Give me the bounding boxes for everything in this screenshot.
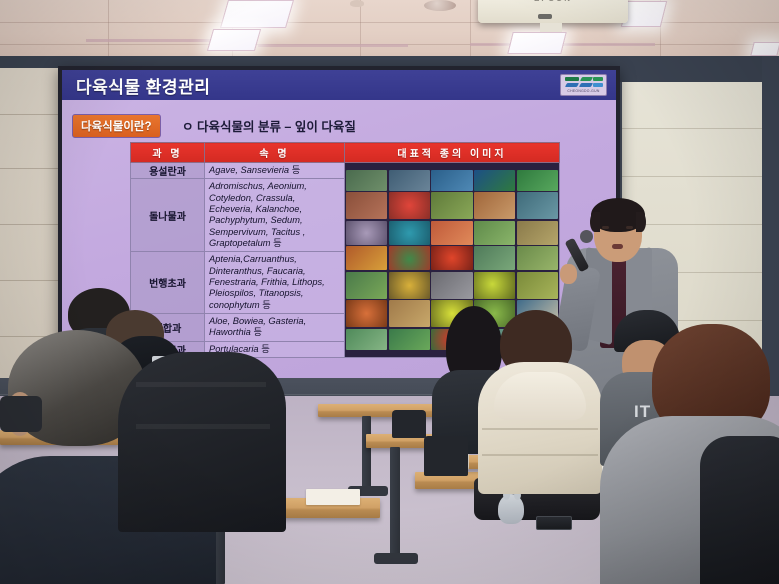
cell-family: 용설란과 xyxy=(131,163,205,179)
species-thumb xyxy=(346,192,387,219)
ceiling-speaker-icon xyxy=(424,0,456,11)
table-header-images: 대표적 종의 이미지 xyxy=(345,143,560,163)
paper-handout xyxy=(306,489,360,505)
plush-keychain xyxy=(498,494,524,524)
species-thumb xyxy=(389,192,430,219)
cheongdo-gun-logo: CHEONGDO-GUN xyxy=(560,74,607,96)
species-thumb xyxy=(389,329,430,350)
species-thumb xyxy=(346,170,387,191)
slide-badge: 다육식물이란? xyxy=(72,114,161,138)
chair-back xyxy=(392,410,426,438)
cell-genera: Adromischus, Aeonium, Cotyledon, Crassul… xyxy=(205,179,345,252)
cell-genera: Aloe, Bowiea, Gasteria, Haworthia 등 xyxy=(205,313,345,341)
table-row: 용설란과 Agave, Sansevieria 등 xyxy=(131,163,560,179)
species-thumb xyxy=(431,272,472,299)
genera-suffix: 등 xyxy=(273,238,282,248)
cell-family: 돌나물과 xyxy=(131,179,205,252)
smartphone xyxy=(536,516,572,530)
species-thumb xyxy=(517,192,558,219)
species-thumb xyxy=(389,272,430,299)
logo-chevron-icon xyxy=(565,77,603,89)
species-thumb xyxy=(346,272,387,299)
cell-family: 번행초과 xyxy=(131,252,205,314)
species-thumb xyxy=(431,221,472,245)
lecture-room-photo: EPSON 다육식물 환경관리 xyxy=(0,0,779,584)
species-thumb xyxy=(346,329,387,350)
genera-suffix: 등 xyxy=(292,165,301,175)
chair-back xyxy=(424,436,468,476)
genera-suffix: 등 xyxy=(262,300,271,310)
smoke-detector-icon xyxy=(350,0,364,7)
genera-suffix: 등 xyxy=(253,327,262,337)
species-thumb xyxy=(431,192,472,219)
species-thumb xyxy=(346,246,387,270)
table-header-row: 과 명 속 명 대표적 종의 이미지 xyxy=(131,143,560,163)
microphone-head-icon xyxy=(580,230,593,243)
logo-text: CHEONGDO-GUN xyxy=(567,89,599,93)
desk-leg xyxy=(362,416,371,488)
projector-brand-label: EPSON xyxy=(478,0,628,3)
species-thumb xyxy=(389,300,430,327)
species-thumb xyxy=(346,300,387,327)
table-header-family: 과 명 xyxy=(131,143,205,163)
table-header-genus: 속 명 xyxy=(205,143,345,163)
genera-suffix: 등 xyxy=(261,344,270,354)
species-thumb xyxy=(431,170,472,191)
ceiling-light xyxy=(507,32,566,54)
species-thumb xyxy=(474,170,515,191)
slide-title: 다육식물 환경관리 xyxy=(76,73,210,98)
species-thumb xyxy=(431,246,472,270)
slide-subtitle: ㅇ 다육식물의 분류 – 잎이 다육질 xyxy=(182,116,356,135)
species-thumb xyxy=(517,221,558,245)
genera-text: Adromischus, Aeonium, Cotyledon, Crassul… xyxy=(209,181,307,248)
species-thumb xyxy=(517,246,558,270)
species-thumb xyxy=(474,192,515,219)
genera-text: Agave, Sansevieria xyxy=(209,165,292,175)
ceiling-light xyxy=(750,42,779,56)
species-thumb xyxy=(389,246,430,270)
species-thumb xyxy=(346,221,387,245)
ceiling-projector: EPSON xyxy=(478,0,628,23)
species-thumb xyxy=(474,246,515,270)
ceiling-light xyxy=(220,0,294,28)
species-thumb xyxy=(474,272,515,299)
cell-genera: Aptenia,Carruanthus, Dinteranthus, Fauca… xyxy=(205,252,345,314)
species-thumb xyxy=(517,272,558,299)
species-thumb xyxy=(389,170,430,191)
ceiling-light xyxy=(207,29,261,51)
species-thumb xyxy=(474,221,515,245)
ceiling: EPSON xyxy=(0,0,779,62)
species-thumb xyxy=(517,170,558,191)
desk-leg xyxy=(390,447,400,555)
cell-genera: Agave, Sansevieria 등 xyxy=(205,163,345,179)
species-thumb xyxy=(389,221,430,245)
